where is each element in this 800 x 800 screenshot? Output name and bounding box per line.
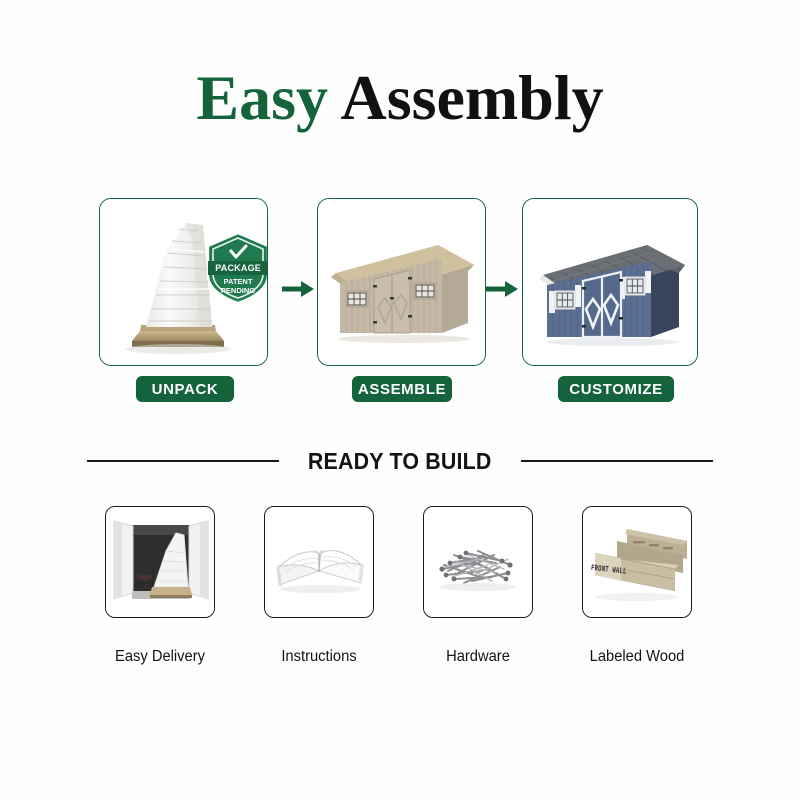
page-title-word-easy: Easy [196, 62, 328, 133]
finished-shed-illustration [523, 199, 697, 365]
page-title: Easy Assembly [0, 66, 800, 130]
delivery-truck-illustration [106, 507, 214, 617]
divider-rule-right [521, 460, 713, 462]
arrow-right-icon-2 [485, 278, 519, 300]
step-label-assemble: ASSEMBLE [352, 376, 452, 402]
step-label-customize: CUSTOMIZE [558, 376, 674, 402]
arrow-right-icon-1 [281, 278, 315, 300]
open-book-illustration [265, 507, 373, 617]
badge-package-text: PACKAGE [215, 263, 261, 274]
lumber-stencil-text: FRONT WALL [591, 562, 627, 576]
step-card-unpack[interactable]: PACKAGE PATENT PENDING [99, 198, 268, 366]
step-label-unpack: UNPACK [136, 376, 234, 402]
feature-card-instructions[interactable] [264, 506, 374, 618]
lumber-stack-illustration: FRONT WALL [583, 507, 691, 617]
ready-to-build-heading: READY TO BUILD [308, 448, 492, 475]
step-card-customize[interactable] [522, 198, 698, 366]
step-card-assemble[interactable] [317, 198, 486, 366]
feature-card-easy-delivery[interactable] [105, 506, 215, 618]
ready-to-build-divider: READY TO BUILD [0, 444, 800, 478]
feature-card-hardware[interactable] [423, 506, 533, 618]
divider-rule-left [87, 460, 279, 462]
step-label-customize-text: CUSTOMIZE [569, 381, 662, 398]
wrapped-pallet-illustration: PACKAGE PATENT PENDING [100, 199, 267, 365]
unfinished-shed-illustration [318, 199, 485, 365]
step-label-unpack-text: UNPACK [152, 381, 219, 398]
step-label-assemble-text: ASSEMBLE [358, 381, 446, 398]
feature-card-labeled-wood[interactable]: FRONT WALL [582, 506, 692, 618]
badge-pending-text: PENDING [208, 286, 267, 295]
badge-patent-text: PATENT [208, 277, 267, 286]
pile-of-nails-illustration [424, 507, 532, 617]
feature-label-labeled-wood: Labeled Wood [542, 648, 732, 666]
page-title-word-assembly: Assembly [340, 62, 603, 133]
